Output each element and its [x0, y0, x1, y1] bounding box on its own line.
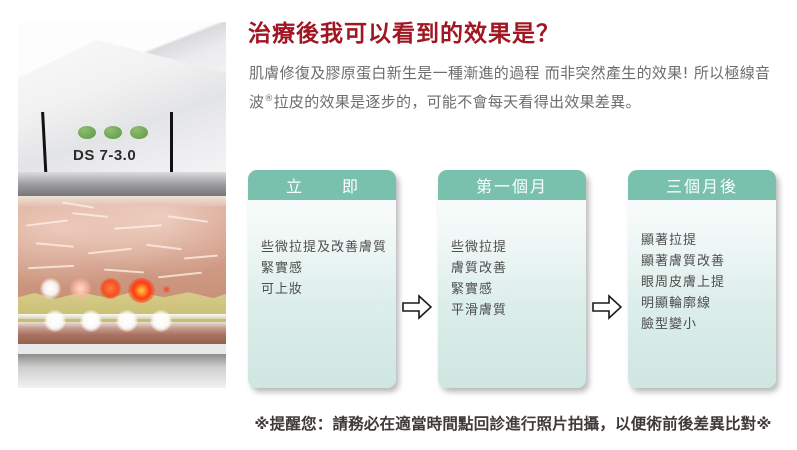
epidermis-layer: [18, 196, 226, 206]
thermal-point-icon: [116, 310, 138, 332]
list-item: 眼周皮膚上提: [641, 272, 776, 293]
footnote: ※提醒您：請務必在適當時間點回診進行照片拍攝，以便術前後差異比對※: [224, 412, 797, 434]
intro-paragraph: 肌膚修復及膠原蛋白新生是一種漸進的過程 而非突然產生的效果! 所以極線音波®拉皮…: [249, 60, 779, 115]
list-item: 些微拉提及改善膚質: [261, 237, 396, 258]
thermal-point-icon: [100, 278, 121, 299]
arrow-right-icon: [402, 292, 432, 322]
arrow-right-icon: [592, 292, 622, 322]
list-item: 顯著膚質改善: [641, 251, 776, 272]
page-title: 治療後我可以看到的效果是？: [248, 14, 560, 48]
timeline-card-first-month[interactable]: 第一個月 些微拉提 膚質改善 緊實感 平滑膚質: [438, 170, 586, 388]
thermal-point-icon: [150, 310, 172, 332]
intro-line-2b: 拉皮的效果是逐步的，可能不會每天看: [274, 93, 534, 111]
timeline-card-immediate[interactable]: 立 即 些微拉提及改善膚質 緊實感 可上妝: [248, 170, 396, 388]
list-item: 臉型變小: [641, 314, 776, 335]
list-item: 顯著拉提: [641, 230, 776, 251]
list-item: 平滑膚質: [451, 300, 586, 321]
thermal-point-icon: [70, 278, 91, 299]
list-item: 緊實感: [451, 279, 586, 300]
card-body-first-month: 些微拉提 膚質改善 緊實感 平滑膚質: [438, 200, 586, 321]
card-title-three-months: 三個月後: [628, 170, 776, 200]
intro-line-1: 肌膚修復及膠原蛋白新生是一種漸進的過程 而非突然產生的: [249, 64, 652, 82]
thermal-point-icon: [40, 278, 61, 299]
card-title-first-month: 第一個月: [438, 170, 586, 200]
thermal-point-icon: [44, 310, 66, 332]
list-item: 些微拉提: [451, 237, 586, 258]
probe-model-label: DS 7-3.0: [73, 147, 136, 164]
content-panel: 治療後我可以看到的效果是？ 肌膚修復及膠原蛋白新生是一種漸進的過程 而非突然產生…: [248, 0, 797, 450]
device-photo: DS 7-3.0: [18, 22, 226, 388]
list-item: 可上妝: [261, 279, 396, 300]
indicator-dot-icon: [130, 126, 148, 139]
thermal-point-icon: [162, 286, 171, 293]
intro-line-3: 得出效果差異。: [534, 93, 641, 111]
photo-bottom-fade: [18, 354, 226, 388]
list-item: 緊實感: [261, 258, 396, 279]
card-body-three-months: 顯著拉提 顯著膚質改善 眼周皮膚上提 明顯輪廓線 臉型變小: [628, 200, 776, 335]
indicator-dot-icon: [104, 126, 122, 139]
registered-trademark-icon: ®: [264, 94, 273, 104]
timeline-card-three-months[interactable]: 三個月後 顯著拉提 顯著膚質改善 眼周皮膚上提 明顯輪廓線 臉型變小: [628, 170, 776, 388]
list-item: 明顯輪廓線: [641, 293, 776, 314]
card-title-immediate: 立 即: [248, 170, 396, 200]
card-body-immediate: 些微拉提及改善膚質 緊實感 可上妝: [248, 200, 396, 300]
thermal-point-icon: [80, 310, 102, 332]
indicator-dot-icon: [78, 126, 96, 139]
skin-cross-section: [18, 196, 226, 354]
list-item: 膚質改善: [451, 258, 586, 279]
thermal-point-icon: [128, 278, 155, 303]
device-shadow-band: [18, 172, 226, 196]
